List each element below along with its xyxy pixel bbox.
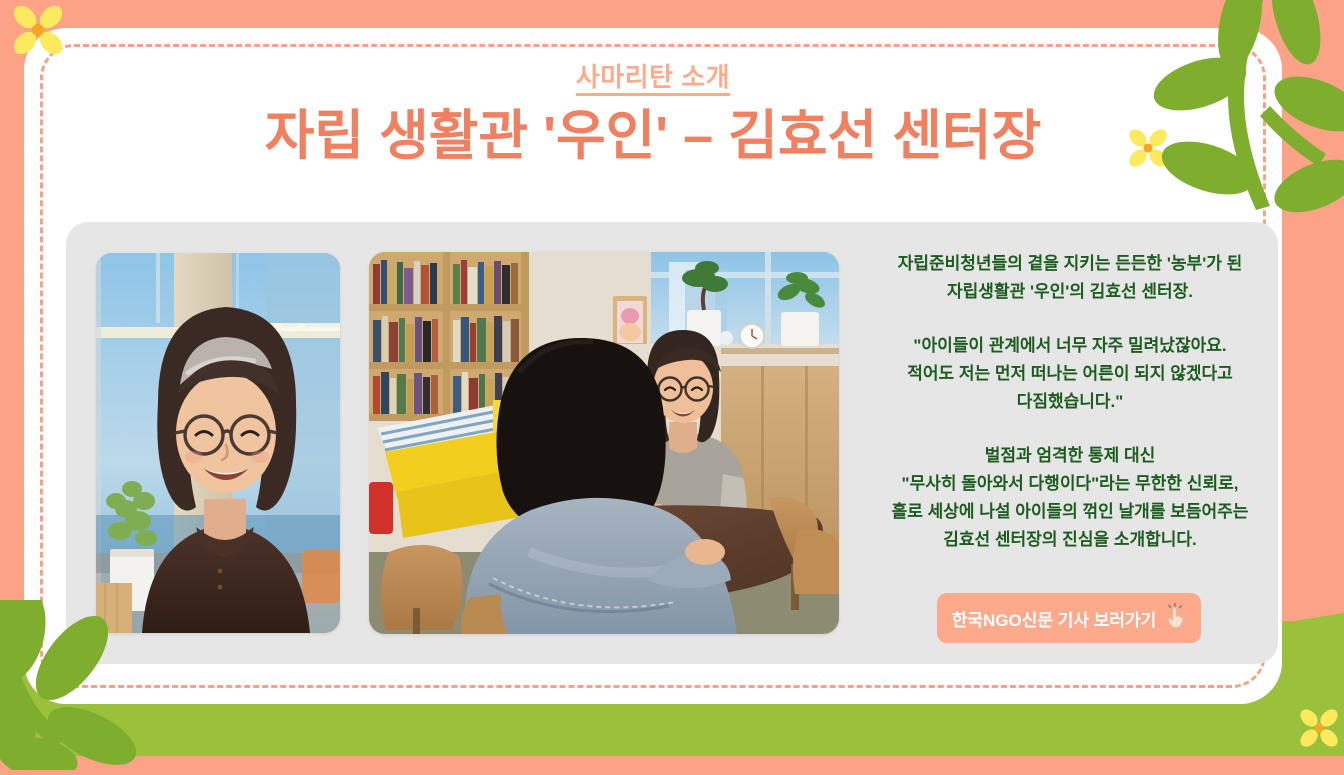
paragraph-intro: 자립준비청년들의 곁을 지키는 든든한 '농부'가 된 자립생활관 '우인'의 …	[862, 250, 1278, 306]
text-line: 자립준비청년들의 곁을 지키는 든든한 '농부'가 된	[862, 250, 1278, 278]
portrait-photo	[96, 253, 340, 633]
text-line: 김효선 센터장의 진심을 소개합니다.	[862, 526, 1278, 554]
read-article-button-label: 한국NGO신문 기사 보러가기	[952, 606, 1157, 631]
text-line: 다짐했습니다."	[862, 388, 1278, 416]
paragraph-closing: 벌점과 엄격한 통제 대신 "무사히 돌아와서 다행이다"라는 무한한 신뢰로,…	[862, 442, 1278, 554]
article-summary-text: 자립준비청년들의 곁을 지키는 든든한 '농부'가 된 자립생활관 '우인'의 …	[862, 250, 1278, 554]
read-article-button[interactable]: 한국NGO신문 기사 보러가기	[937, 593, 1201, 643]
page-title: 자립 생활관 '우인' – 김효선 센터장	[24, 104, 1282, 168]
interview-photo	[369, 252, 839, 634]
text-line: "아이들이 관계에서 너무 자주 밀려났잖아요.	[862, 332, 1278, 360]
text-line: "무사히 돌아와서 다행이다"라는 무한한 신뢰로,	[862, 470, 1278, 498]
header: 사마리탄 소개 자립 생활관 '우인' – 김효선 센터장	[24, 60, 1282, 168]
eyebrow-label: 사마리탄 소개	[24, 60, 1282, 94]
text-line: 벌점과 엄격한 통제 대신	[862, 442, 1278, 470]
text-line: 홀로 세상에 나설 아이들의 꺾인 날개를 보듬어주는	[862, 498, 1278, 526]
pointing-hand-icon	[1162, 603, 1186, 633]
text-line: 자립생활관 '우인'의 김효선 센터장.	[862, 278, 1278, 306]
paragraph-quote: "아이들이 관계에서 너무 자주 밀려났잖아요. 적어도 저는 먼저 떠나는 어…	[862, 332, 1278, 416]
text-line: 적어도 저는 먼저 떠나는 어른이 되지 않겠다고	[862, 360, 1278, 388]
